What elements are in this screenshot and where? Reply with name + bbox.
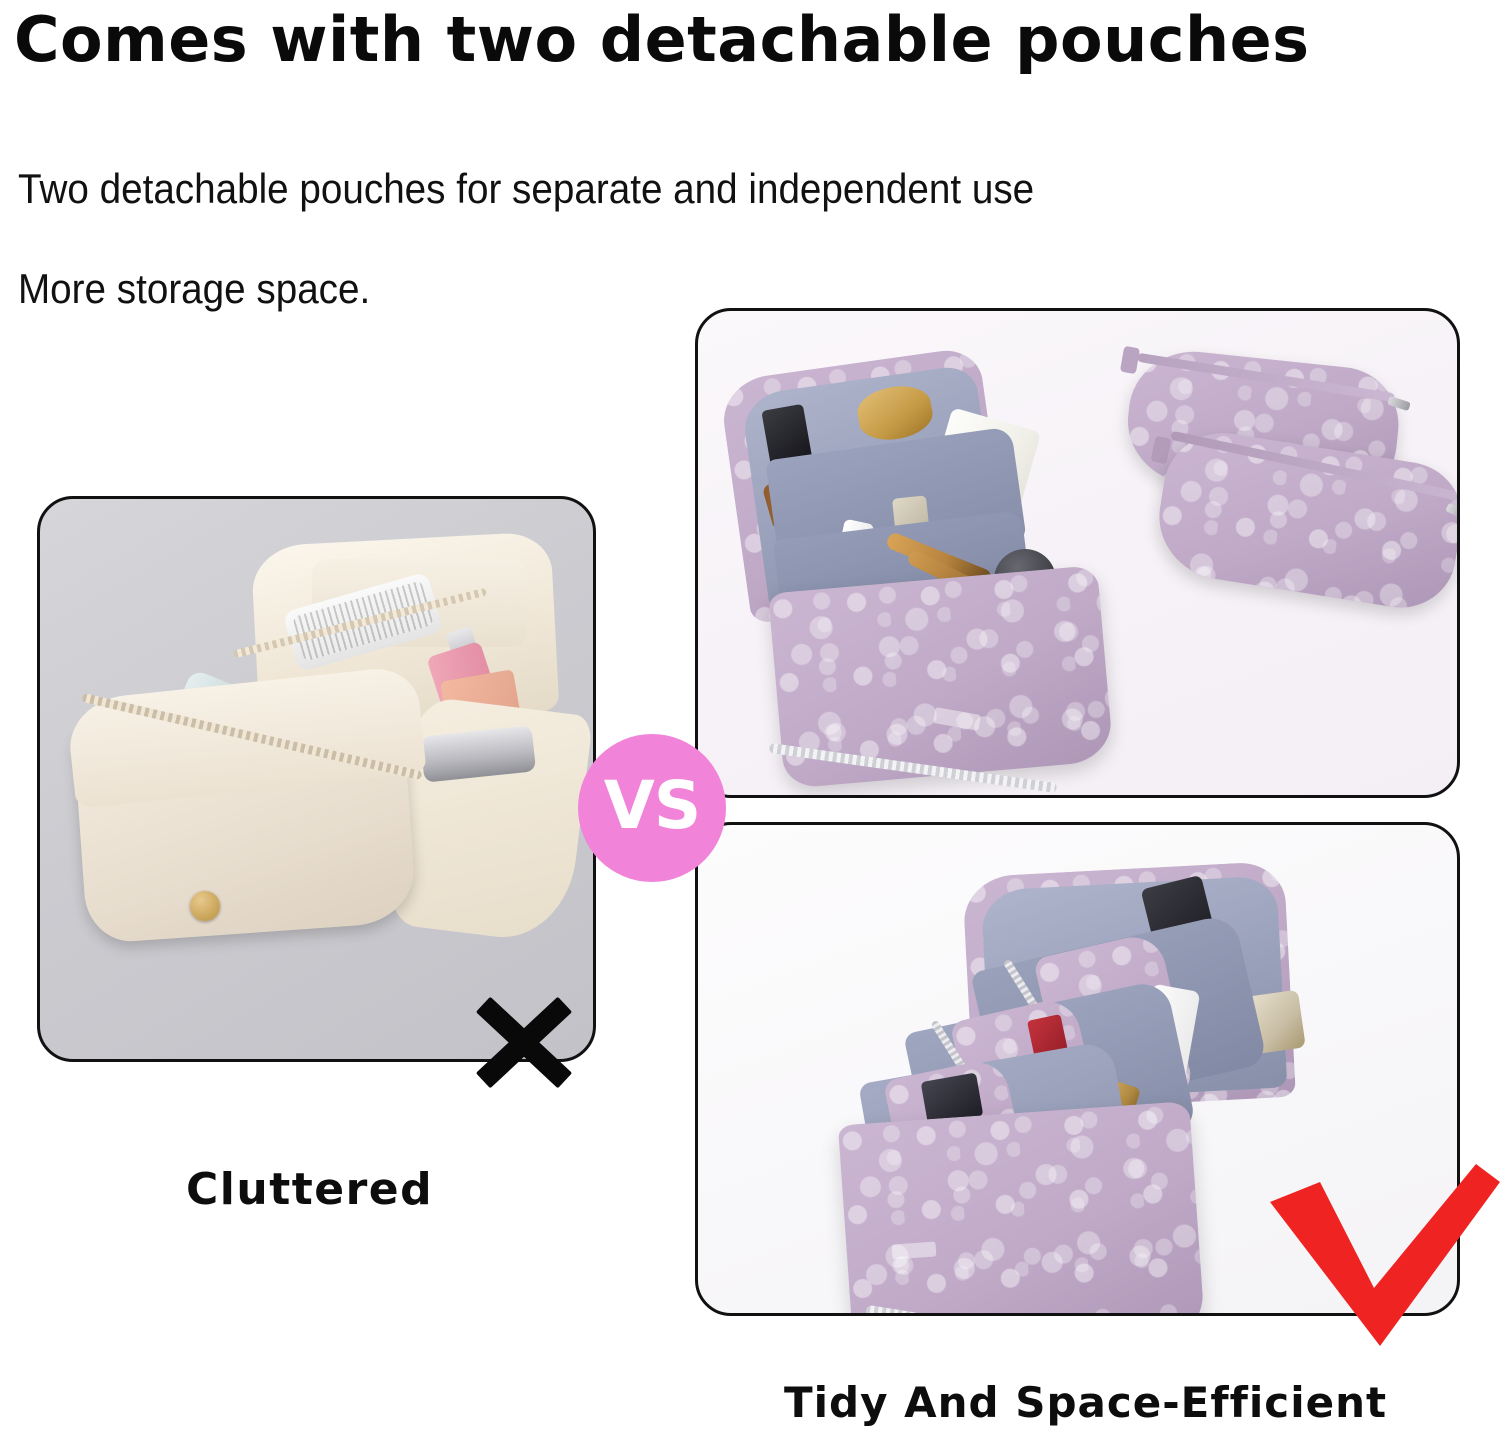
check-mark-icon	[1262, 1160, 1500, 1350]
x-mark-icon	[474, 992, 574, 1092]
lavender-bag-front-tag	[892, 1241, 937, 1259]
subtitle-line-1: Two detachable pouches for separate and …	[18, 163, 1034, 215]
lavender-bag-front-body	[838, 1101, 1206, 1316]
detachable-pouches-panel: SK	[695, 308, 1460, 798]
page-title: Comes with two detachable pouches	[14, 2, 1494, 78]
cluttered-product-panel	[37, 496, 596, 1062]
cream-bag-snap-button	[190, 891, 220, 921]
vs-label: VS	[604, 773, 701, 839]
check-mark-svg	[1262, 1160, 1500, 1350]
detachable-pouch-b	[1150, 424, 1460, 615]
cluttered-bag-photo	[40, 499, 593, 1059]
subtitle-line-2: More storage space.	[18, 263, 370, 315]
vs-badge: VS	[578, 734, 726, 882]
caption-cluttered: Cluttered	[186, 1164, 433, 1215]
infographic-page: Comes with two detachable pouches Two de…	[0, 0, 1500, 1444]
lavender-bag-with-pouches-photo: SK	[698, 311, 1457, 795]
caption-tidy: Tidy And Space-Efficient	[784, 1378, 1387, 1427]
